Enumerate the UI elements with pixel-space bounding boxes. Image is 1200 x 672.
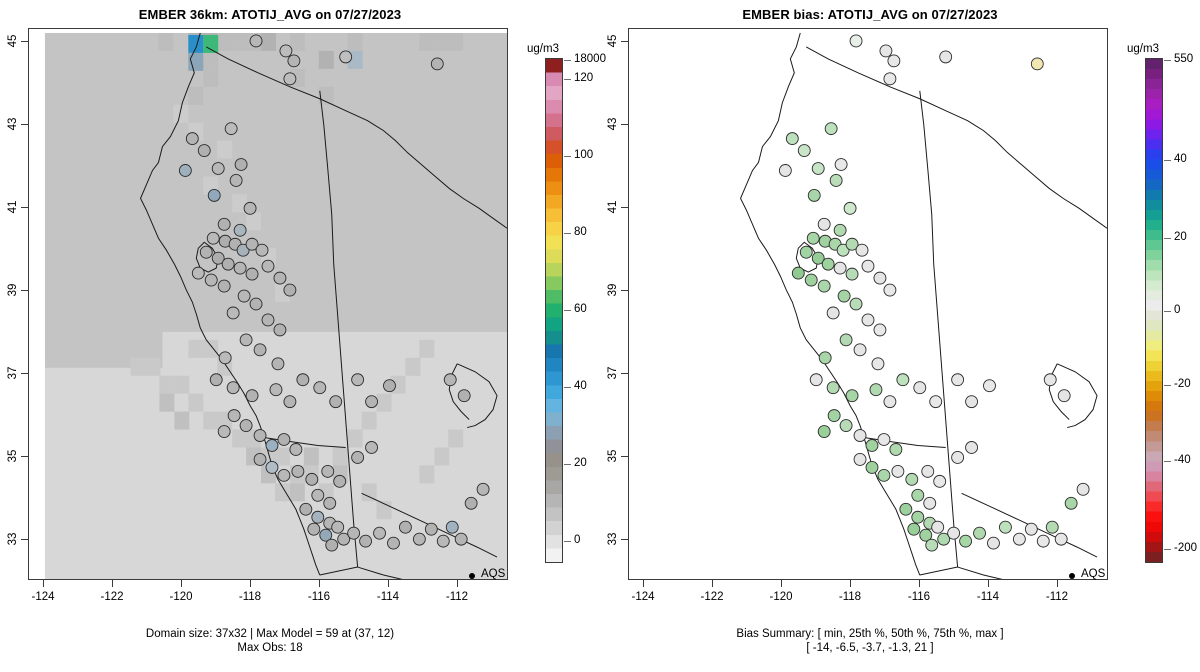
bias-colorbar-tick: -200 — [1174, 542, 1197, 554]
y-tick-mark — [21, 539, 28, 540]
bias-map-plot — [628, 28, 1108, 580]
aqs-legend-label: AQS — [1081, 568, 1105, 580]
x-tick-label: -120 — [158, 591, 204, 603]
y-tick-label: 37 — [7, 353, 19, 393]
y-tick-label: 41 — [607, 187, 619, 227]
y-tick-mark — [621, 124, 628, 125]
panel-bias-title: EMBER bias: ATOTIJ_AVG on 07/27/2023 — [600, 7, 1140, 22]
y-tick-label: 43 — [7, 104, 19, 144]
y-tick-label: 45 — [7, 21, 19, 61]
x-tick-label: -112 — [1034, 591, 1080, 603]
bias-colorbar-bar — [1145, 58, 1163, 563]
aqs-legend-dot — [469, 573, 475, 579]
y-tick-label: 35 — [607, 436, 619, 476]
y-tick-mark — [21, 456, 28, 457]
bias-colorbar-tick: 20 — [1174, 231, 1187, 243]
x-tick-label: -122 — [689, 591, 735, 603]
y-tick-mark — [621, 41, 628, 42]
x-tick-mark — [319, 580, 320, 587]
bias-caption-line1: Bias Summary: [ min, 25th %, 50th %, 75t… — [600, 627, 1140, 641]
y-tick-label: 33 — [7, 519, 19, 559]
x-tick-label: -116 — [296, 591, 342, 603]
y-tick-label: 33 — [607, 519, 619, 559]
y-tick-mark — [21, 41, 28, 42]
model-cell-high-blue — [188, 35, 203, 53]
bias-colorbar-tick: -20 — [1174, 378, 1191, 390]
y-tick-label: 43 — [607, 104, 619, 144]
y-tick-mark — [21, 207, 28, 208]
x-tick-label: -116 — [896, 591, 942, 603]
y-tick-label: 39 — [7, 270, 19, 310]
bias-colorbar-unit: ug/m3 — [1127, 43, 1159, 55]
y-tick-mark — [21, 373, 28, 374]
aqs-legend-dot — [1069, 573, 1075, 579]
y-tick-label: 37 — [607, 353, 619, 393]
x-tick-mark — [43, 580, 44, 587]
y-tick-mark — [21, 124, 28, 125]
y-tick-mark — [621, 456, 628, 457]
bias-colorbar-tick: -40 — [1174, 454, 1191, 466]
y-tick-label: 39 — [607, 270, 619, 310]
model-colorbar-tick: 120 — [574, 72, 593, 84]
panel-bias: EMBER bias: ATOTIJ_AVG on 07/27/2023 — [600, 0, 1200, 672]
x-tick-label: -120 — [758, 591, 804, 603]
model-colorbar-tick: 60 — [574, 303, 587, 315]
model-colorbar-tick: 40 — [574, 380, 587, 392]
bias-colorbar-tick: 0 — [1174, 304, 1180, 316]
model-colorbar-bar — [545, 58, 563, 563]
model-caption-line1: Domain size: 37x32 | Max Model = 59 at (… — [0, 627, 540, 641]
x-tick-mark — [181, 580, 182, 587]
x-tick-mark — [781, 580, 782, 587]
model-cell-high-green — [203, 35, 218, 53]
x-tick-mark — [1057, 580, 1058, 587]
model-colorbar-unit: ug/m3 — [527, 43, 559, 55]
y-tick-label: 45 — [607, 21, 619, 61]
model-colorbar-tick: 20 — [574, 457, 587, 469]
x-tick-label: -118 — [827, 591, 873, 603]
x-tick-label: -124 — [620, 591, 666, 603]
bias-colorbar-tick: 550 — [1174, 53, 1193, 65]
y-tick-mark — [21, 290, 28, 291]
aqs-legend-label: AQS — [481, 568, 505, 580]
y-tick-label: 41 — [7, 187, 19, 227]
x-tick-mark — [919, 580, 920, 587]
x-tick-label: -124 — [20, 591, 66, 603]
x-tick-label: -114 — [365, 591, 411, 603]
x-tick-mark — [250, 580, 251, 587]
y-tick-label: 35 — [7, 436, 19, 476]
y-tick-mark — [621, 539, 628, 540]
y-tick-mark — [621, 373, 628, 374]
bias-colorbar-tick: 40 — [1174, 153, 1187, 165]
model-colorbar-tick: 100 — [574, 149, 593, 161]
x-tick-mark — [850, 580, 851, 587]
panel-model: EMBER 36km: ATOTIJ_AVG on 07/27/2023 — [0, 0, 600, 672]
y-tick-mark — [621, 207, 628, 208]
panel-model-title: EMBER 36km: ATOTIJ_AVG on 07/27/2023 — [0, 7, 540, 22]
x-tick-mark — [712, 580, 713, 587]
bias-map-svg — [629, 29, 1107, 579]
model-map-plot — [28, 28, 508, 580]
x-tick-mark — [388, 580, 389, 587]
x-tick-mark — [457, 580, 458, 587]
x-tick-mark — [643, 580, 644, 587]
model-colorbar-tick: 0 — [574, 534, 580, 546]
y-tick-mark — [621, 290, 628, 291]
x-tick-mark — [988, 580, 989, 587]
model-colorbar-tick: 80 — [574, 226, 587, 238]
model-map-svg — [29, 29, 507, 579]
figure-root: EMBER 36km: ATOTIJ_AVG on 07/27/2023 — [0, 0, 1200, 672]
x-tick-label: -122 — [89, 591, 135, 603]
x-tick-label: -118 — [227, 591, 273, 603]
x-tick-mark — [112, 580, 113, 587]
x-tick-label: -114 — [965, 591, 1011, 603]
x-tick-label: -112 — [434, 591, 480, 603]
bias-caption-line2: [ -14, -6.5, -3.7, -1.3, 21 ] — [600, 641, 1140, 655]
model-caption-line2: Max Obs: 18 — [0, 641, 540, 655]
